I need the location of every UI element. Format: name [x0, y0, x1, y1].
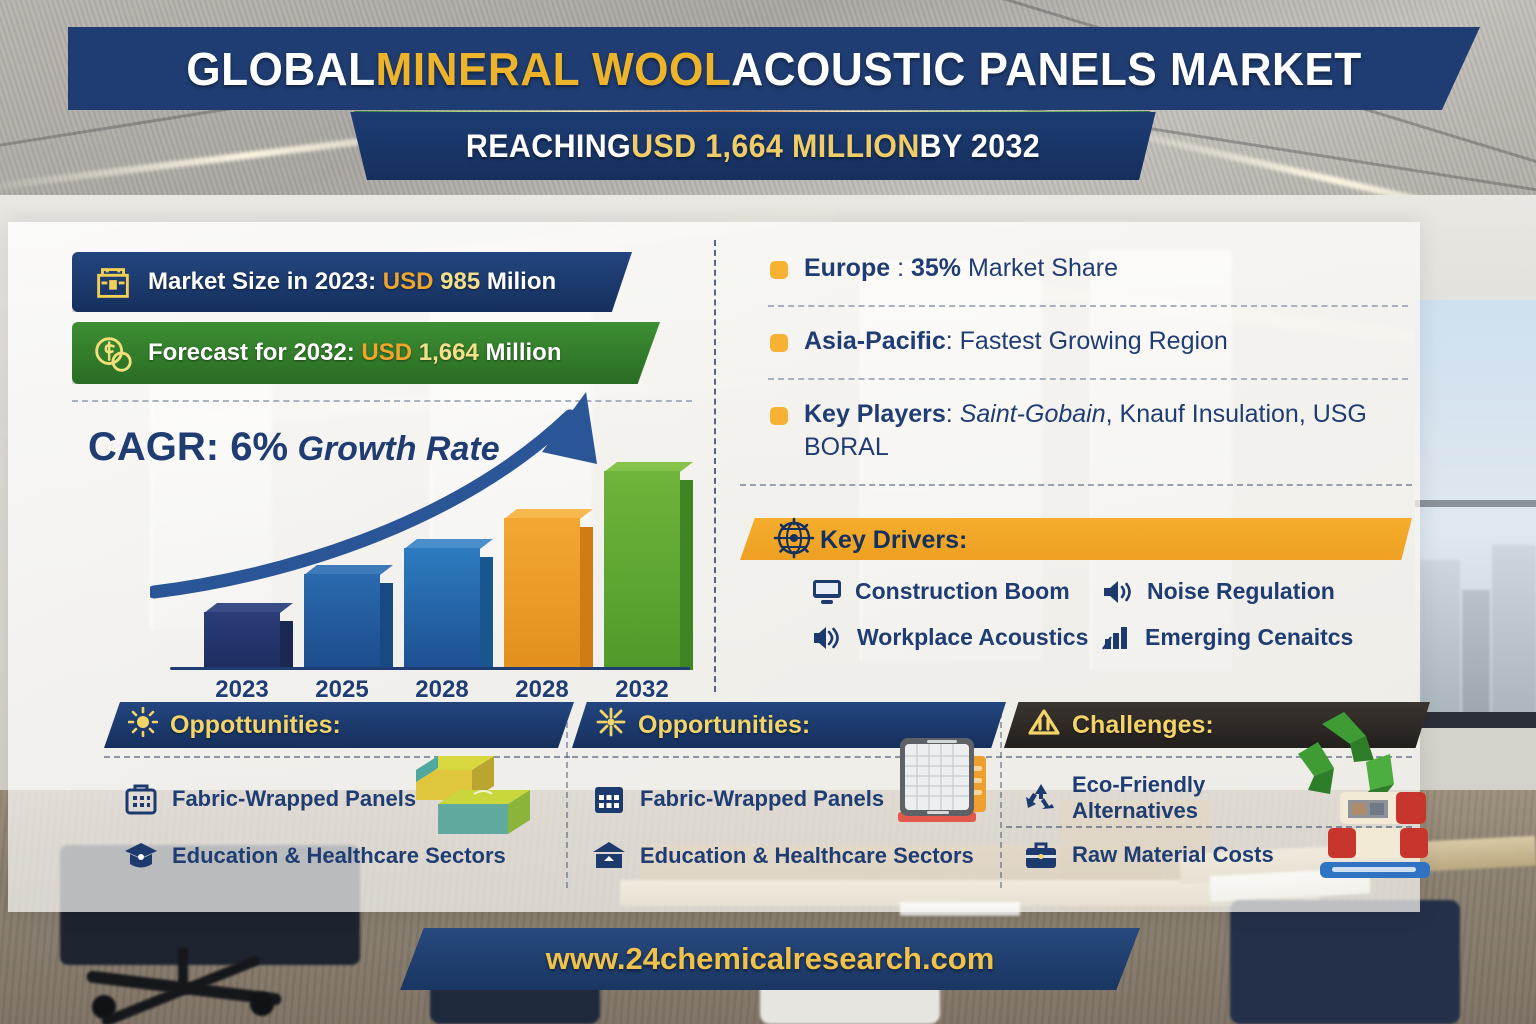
infographic-canvas: GLOBAL MINERAL WOOL ACOUSTIC PANELS MARK… [0, 0, 1536, 1024]
header: GLOBAL MINERAL WOOL ACOUSTIC PANELS MARK… [0, 0, 1536, 200]
key-drivers-title: Key Drivers: [820, 519, 967, 561]
chart-bar [204, 612, 280, 670]
title-part-1: GLOBAL [186, 42, 375, 96]
region-text: Europe : 35% Market Share [804, 252, 1118, 285]
market-size-currency: USD [383, 268, 440, 295]
key-players-text: Key Players: Saint-Gobain, Knauf Insulat… [804, 398, 1410, 464]
divider-left-1 [72, 400, 692, 402]
forecast-currency: USD [361, 339, 418, 366]
region-rest: Fastest Growing Region [960, 327, 1228, 355]
region-value: 35% [911, 254, 961, 282]
region-rest: Market Share [961, 254, 1118, 282]
forecast-value: 1,664 [419, 339, 486, 366]
divider-right-3 [740, 484, 1412, 486]
column-3-item-label: Raw Material Costs [1072, 842, 1274, 868]
chart-x-label: 2028 [492, 676, 592, 704]
box-icon [90, 259, 136, 305]
page-title: GLOBAL MINERAL WOOL ACOUSTIC PANELS MARK… [96, 27, 1452, 110]
column-3-item: Eco-Friendly Alternatives [1024, 772, 1205, 823]
column-3-item: Raw Material Costs [1024, 840, 1274, 870]
divider-right-2 [768, 378, 1408, 380]
chart-x-label: 2023 [192, 676, 292, 704]
forecast-banner: Forecast for 2032: USD 1,664 Million [72, 322, 660, 384]
page-subtitle: REACHING USD 1,664 MILLION BY 2032 [358, 112, 1148, 180]
key-driver-label: Noise Regulation [1147, 578, 1335, 605]
market-size-banner: Market Size in 2023: USD 985 Milion [72, 252, 632, 312]
bar-chart-icon [1102, 625, 1132, 651]
school-icon [592, 840, 626, 872]
region-bullet-europe: Europe : 35% Market Share [770, 252, 1400, 285]
decorative-recycle-books [1270, 710, 1440, 895]
sparkle-icon [596, 707, 626, 744]
key-driver-item: Emerging Cenaitcs [1102, 624, 1353, 651]
window-mullion [1415, 500, 1536, 507]
chart-bar [304, 574, 380, 670]
key-driver-item: Workplace Acoustics [812, 624, 1088, 651]
column-1-item: Fabric-Wrapped Panels [124, 782, 416, 816]
market-size-label: Market Size in 2023: [148, 268, 383, 295]
subtitle-part-2: BY 2032 [920, 128, 1040, 165]
market-size-unit: Milion [487, 268, 556, 295]
sun-icon [128, 707, 158, 744]
column-2-item: Fabric-Wrapped Panels [592, 782, 884, 816]
chart-x-label: 2028 [392, 676, 492, 704]
vertical-divider [714, 240, 716, 692]
region-bullet-key-players: Key Players: Saint-Gobain, Knauf Insulat… [770, 398, 1410, 464]
chart-axis [170, 667, 690, 670]
column-3-item-label: Eco-Friendly Alternatives [1072, 772, 1205, 823]
city-building [1492, 545, 1536, 720]
title-highlight: MINERAL WOOL [376, 42, 732, 96]
city-building [1420, 560, 1460, 720]
title-part-2: ACOUSTIC PANELS MARKET [731, 42, 1361, 96]
speaker-icon [1102, 579, 1134, 605]
globe-gear-icon [772, 516, 816, 560]
forecast-text: Forecast for 2032: USD 1,664 Million [148, 339, 561, 367]
column-3-title: Challenges: [1028, 702, 1214, 748]
decorative-panel-boxes [408, 738, 538, 853]
key-player-primary: Saint-Gobain [960, 400, 1106, 428]
chair-wheel [250, 992, 274, 1016]
col-divider-1 [566, 712, 568, 888]
recycle-icon [1024, 782, 1058, 814]
chair-wheel [92, 995, 116, 1019]
key-driver-item: Noise Regulation [1102, 578, 1335, 605]
region-text: Asia-Pacific: Fastest Growing Region [804, 325, 1228, 358]
column-2-item-label: Fabric-Wrapped Panels [640, 786, 884, 812]
column-1-title-text: Oppottunities: [170, 711, 341, 740]
briefcase-grid-icon [124, 782, 158, 816]
column-2-title-text: Opportunities: [638, 711, 810, 740]
subtitle-highlight: USD 1,664 MILLION [631, 128, 920, 165]
sound-wave-icon [812, 625, 844, 651]
dollar-coin-icon [90, 330, 136, 376]
bullet-dot-icon [770, 261, 788, 279]
bullet-dot-icon [770, 407, 788, 425]
chart-x-label: 2025 [292, 676, 392, 704]
key-driver-item: Construction Boom [812, 578, 1070, 605]
forecast-unit: Million [486, 339, 562, 366]
market-size-value: 985 [440, 268, 487, 295]
market-size-text: Market Size in 2023: USD 985 Milion [148, 268, 556, 296]
chart-bar [404, 548, 480, 670]
region-bullet-apac: Asia-Pacific: Fastest Growing Region [770, 325, 1400, 358]
warning-triangle-icon [1028, 708, 1060, 743]
bullet-dot-icon [770, 334, 788, 352]
subtitle-part-1: REACHING [466, 128, 631, 165]
market-growth-chart: 2023 2025 2028 2028 2032 [170, 430, 690, 670]
city-building [1462, 590, 1490, 720]
key-driver-label: Emerging Cenaitcs [1145, 624, 1353, 651]
column-1-title: Oppottunities: [128, 702, 341, 748]
decorative-device [884, 730, 1004, 845]
key-driver-label: Workplace Acoustics [857, 624, 1088, 651]
column-1-item-label: Fabric-Wrapped Panels [172, 786, 416, 812]
key-players-label: Key Players [804, 400, 946, 428]
chart-x-label: 2032 [592, 676, 692, 704]
monitor-icon [812, 579, 842, 605]
key-driver-label: Construction Boom [855, 578, 1070, 605]
column-2-item-label: Education & Healthcare Sectors [640, 843, 974, 869]
column-2-title: Opportunities: [596, 702, 810, 748]
chair [1230, 900, 1460, 1024]
region-label: Asia-Pacific [804, 327, 946, 355]
chart-bar [604, 471, 680, 670]
briefcase-icon [1024, 840, 1058, 870]
footer-url[interactable]: www.24chemicalresearch.com [400, 928, 1140, 990]
graduation-cap-icon [124, 840, 158, 872]
forecast-label: Forecast for 2032: [148, 339, 361, 366]
divider-right-1 [768, 305, 1408, 307]
chart-bar [504, 518, 580, 670]
region-label: Europe [804, 254, 890, 282]
calendar-grid-icon [592, 782, 626, 816]
column-3-title-text: Challenges: [1072, 711, 1214, 740]
